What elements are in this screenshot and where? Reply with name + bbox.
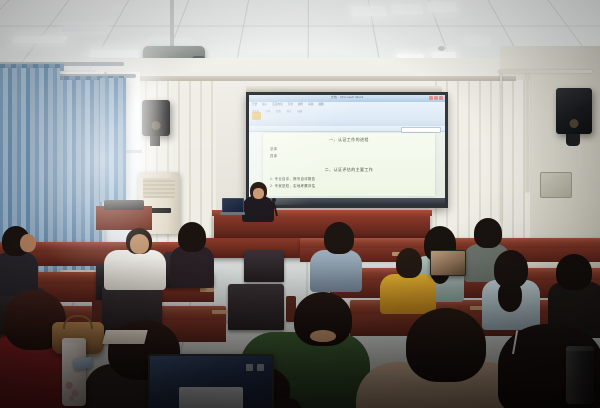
ribbon-tab[interactable]: 审阅 — [308, 102, 313, 106]
attendee-ponytail — [498, 282, 522, 312]
tablet-screen[interactable] — [430, 250, 466, 276]
attendee-head — [130, 234, 149, 254]
laptop-window[interactable] — [179, 387, 242, 408]
presenter-face — [253, 188, 264, 199]
ribbon-group: 字体 — [265, 109, 270, 113]
ac-vent-icon — [143, 178, 175, 198]
attendee-torso — [310, 250, 362, 292]
ribbon-tab[interactable]: 开始 — [252, 102, 257, 106]
av-control-equipment[interactable] — [104, 200, 144, 210]
attendee-torso — [380, 274, 436, 314]
ceiling-light-13 — [465, 38, 489, 44]
document-body-line: 1. 专业自评，撰写自评报告 — [270, 176, 435, 181]
thermos-pattern — [64, 375, 81, 401]
minimize-icon[interactable] — [429, 96, 433, 100]
desktop-icon[interactable] — [246, 364, 253, 371]
projection-screen: 文档 - Microsoft Word 开始 插入 页面布局 引用 邮件 审阅 … — [246, 92, 448, 208]
window-controls[interactable] — [429, 96, 443, 100]
attendee-hair — [406, 308, 486, 382]
laptop-keyboard[interactable] — [220, 212, 245, 215]
chair-back[interactable] — [228, 284, 284, 330]
lecture-hall-photo: 文档 - Microsoft Word 开始 插入 页面布局 引用 邮件 审阅 … — [0, 0, 600, 408]
ceiling-light-7 — [427, 2, 457, 12]
ribbon-toolbar[interactable]: 开始 插入 页面布局 引用 邮件 审阅 视图 剪贴板 字体 段落 样式 编辑 — [249, 102, 445, 127]
ribbon-tab-strip[interactable]: 开始 插入 页面布局 引用 邮件 审阅 视图 — [252, 102, 324, 106]
find-input[interactable] — [401, 127, 441, 133]
attendee-hair — [178, 222, 206, 252]
thermos-white-floral[interactable] — [62, 338, 86, 406]
attendee-hair — [556, 254, 592, 290]
document-body-line: 2. 专家进校，实地考察评估 — [270, 183, 435, 188]
app-window-title: 文档 - Microsoft Word — [331, 95, 364, 99]
ribbon-tab[interactable]: 插入 — [262, 102, 267, 106]
wall-speaker-right — [556, 88, 592, 134]
close-icon[interactable] — [439, 96, 443, 100]
ceiling-light-3 — [89, 50, 150, 57]
ribbon-group-labels: 剪贴板 字体 段落 样式 编辑 — [252, 109, 442, 113]
clipboard-icon[interactable] — [252, 112, 261, 120]
document-ruler — [249, 126, 445, 132]
attendee-neck — [310, 330, 336, 342]
papers-notebook[interactable] — [102, 330, 147, 344]
document-heading-1: 一、认证工作的进程 — [263, 137, 435, 143]
electrical-conduit — [500, 72, 502, 222]
speaker-cone-icon — [152, 121, 161, 130]
attendee-torso — [170, 246, 214, 288]
thermos-dark[interactable] — [566, 346, 594, 404]
attendee-hair — [396, 248, 422, 278]
curtain-right[interactable] — [100, 78, 126, 202]
ceiling-light-1 — [12, 36, 67, 43]
speaker-bracket — [566, 134, 580, 146]
maximize-icon[interactable] — [434, 96, 438, 100]
ribbon-tab[interactable]: 视图 — [318, 102, 323, 106]
document-heading-2: 二、认证评估的主要工作 — [263, 167, 435, 173]
electrical-conduit — [526, 74, 529, 192]
laptop-screen — [148, 354, 274, 408]
speaker-bracket — [150, 136, 160, 146]
microphone-head-icon — [272, 198, 276, 202]
wall-speaker-left — [142, 100, 170, 136]
ribbon-tab[interactable]: 页面布局 — [272, 102, 282, 106]
chair-back[interactable] — [244, 250, 284, 282]
ribbon-tab[interactable]: 邮件 — [298, 102, 303, 106]
ceiling-light-6 — [391, 4, 423, 14]
ribbon-group: 编辑 — [298, 109, 303, 113]
document-body-line: 具体 — [270, 153, 435, 158]
attendee-hair — [474, 218, 502, 248]
attendee-torso — [104, 250, 166, 290]
wall-trim-rail — [96, 76, 516, 81]
projector-mount-pole — [170, 0, 174, 48]
thermos-cap — [566, 346, 594, 351]
attendee-hair — [324, 222, 354, 254]
desktop-icon[interactable] — [257, 364, 264, 371]
desk-number-plate — [200, 288, 214, 292]
ceiling-light-2 — [61, 26, 110, 32]
foreground-laptop[interactable] — [148, 354, 274, 408]
smoke-detector-icon — [438, 46, 445, 51]
presenter-laptop[interactable] — [222, 198, 244, 218]
electrical-conduit — [498, 70, 592, 73]
speaker-cone-icon — [570, 119, 579, 128]
os-taskbar[interactable] — [249, 198, 445, 205]
projected-image: 文档 - Microsoft Word 开始 插入 页面布局 引用 邮件 审阅 … — [249, 95, 445, 205]
document-page: 一、认证工作的进程 总体 具体 二、认证评估的主要工作 1. 专业自评，撰写自评… — [263, 133, 435, 196]
ribbon-group: 样式 — [287, 109, 292, 113]
thermos-cap — [62, 338, 86, 343]
document-body-line: 总体 — [270, 146, 435, 151]
attendee-head — [20, 234, 36, 252]
ceiling-light-5 — [351, 6, 387, 16]
app-title-bar: 文档 - Microsoft Word — [249, 95, 445, 102]
ribbon-group: 段落 — [276, 109, 281, 113]
electrical-junction-box — [540, 172, 572, 198]
desktop-icons[interactable] — [246, 364, 264, 371]
ribbon-tab[interactable]: 引用 — [288, 102, 293, 106]
ribbon-group: 剪贴板 — [252, 109, 259, 113]
